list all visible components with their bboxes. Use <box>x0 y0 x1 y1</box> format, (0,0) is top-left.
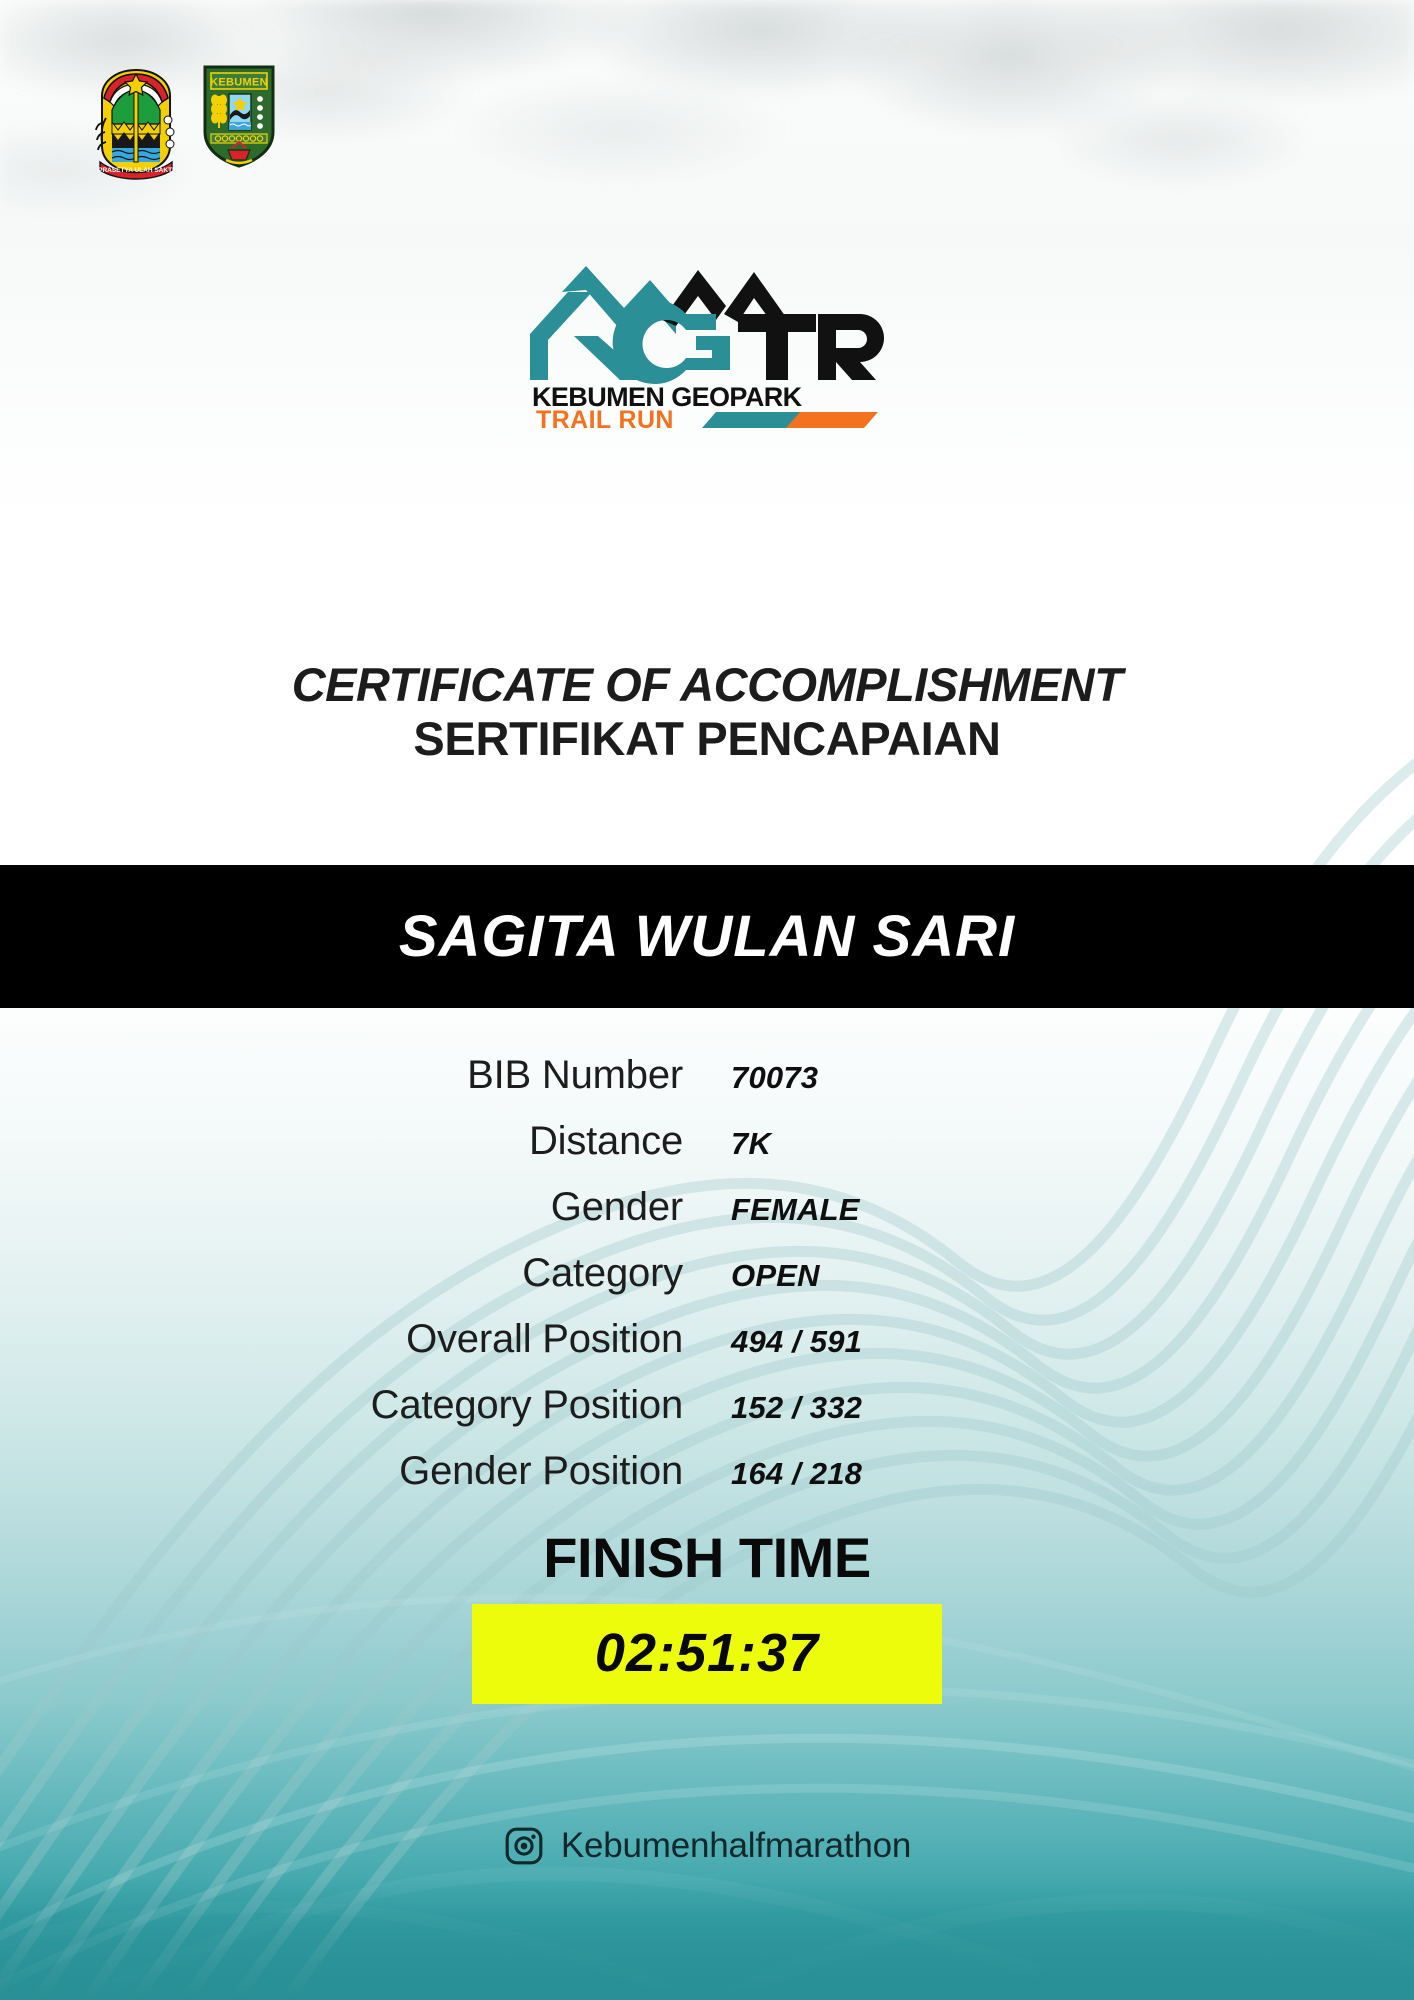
detail-value: FEMALE <box>731 1192 1151 1228</box>
detail-value: 152 / 332 <box>731 1390 1151 1426</box>
finish-time-highlight: 02:51:37 <box>472 1604 942 1704</box>
certificate-titles: CERTIFICATE OF ACCOMPLISHMENT SERTIFIKAT… <box>0 660 1414 766</box>
participant-name: SAGITA WULAN SARI <box>399 903 1015 970</box>
kebumen-emblem: KEBUMEN <box>200 62 278 170</box>
detail-value: 494 / 591 <box>731 1324 1151 1360</box>
certificate-page: PRASETYA ULAH SAKTI KEBUMEN <box>0 0 1414 2000</box>
detail-row-gender: Gender FEMALE <box>0 1185 1414 1251</box>
emblem-group: PRASETYA ULAH SAKTI KEBUMEN <box>88 62 278 180</box>
footer-social: Kebumenhalfmarathon <box>0 1825 1414 1867</box>
svg-text:PRASETYA ULAH SAKTI: PRASETYA ULAH SAKTI <box>98 167 174 174</box>
detail-label: BIB Number <box>263 1053 731 1098</box>
detail-row-distance: Distance 7K <box>0 1119 1414 1185</box>
detail-label: Gender Position <box>263 1449 731 1494</box>
result-details-table: BIB Number 70073 Distance 7K Gender FEMA… <box>0 1053 1414 1515</box>
detail-label: Category <box>263 1251 731 1296</box>
detail-label: Gender <box>263 1185 731 1230</box>
detail-label: Overall Position <box>263 1317 731 1362</box>
detail-value: 164 / 218 <box>731 1456 1151 1492</box>
footer-teal-overlay <box>0 1880 1414 2000</box>
finish-time-section: FINISH TIME 02:51:37 <box>0 1530 1414 1704</box>
svg-text:KEBUMEN: KEBUMEN <box>210 77 268 89</box>
instagram-handle: Kebumenhalfmarathon <box>561 1826 911 1866</box>
detail-row-category-position: Category Position 152 / 332 <box>0 1383 1414 1449</box>
detail-row-bib-number: BIB Number 70073 <box>0 1053 1414 1119</box>
detail-label: Category Position <box>263 1383 731 1428</box>
title-english: CERTIFICATE OF ACCOMPLISHMENT <box>0 660 1414 711</box>
detail-row-category: Category OPEN <box>0 1251 1414 1317</box>
detail-label: Distance <box>263 1119 731 1164</box>
instagram-icon <box>503 1825 545 1867</box>
detail-value: 70073 <box>731 1060 1151 1096</box>
detail-value: OPEN <box>731 1258 1151 1294</box>
detail-value: 7K <box>731 1126 1151 1162</box>
kgtr-logo-mark: KEBUMEN GEOPARK TRAIL RUN <box>512 228 902 428</box>
detail-row-gender-position: Gender Position 164 / 218 <box>0 1449 1414 1515</box>
event-logo: KEBUMEN GEOPARK TRAIL RUN <box>0 228 1414 428</box>
detail-row-overall-position: Overall Position 494 / 591 <box>0 1317 1414 1383</box>
finish-time-value: 02:51:37 <box>472 1626 942 1680</box>
logo-wordmark-secondary: TRAIL RUN <box>536 406 674 428</box>
title-indonesian: SERTIFIKAT PENCAPAIAN <box>0 711 1414 766</box>
jawa-tengah-emblem: PRASETYA ULAH SAKTI <box>88 62 184 180</box>
participant-name-band: SAGITA WULAN SARI <box>0 865 1414 1008</box>
finish-time-label: FINISH TIME <box>0 1530 1414 1586</box>
